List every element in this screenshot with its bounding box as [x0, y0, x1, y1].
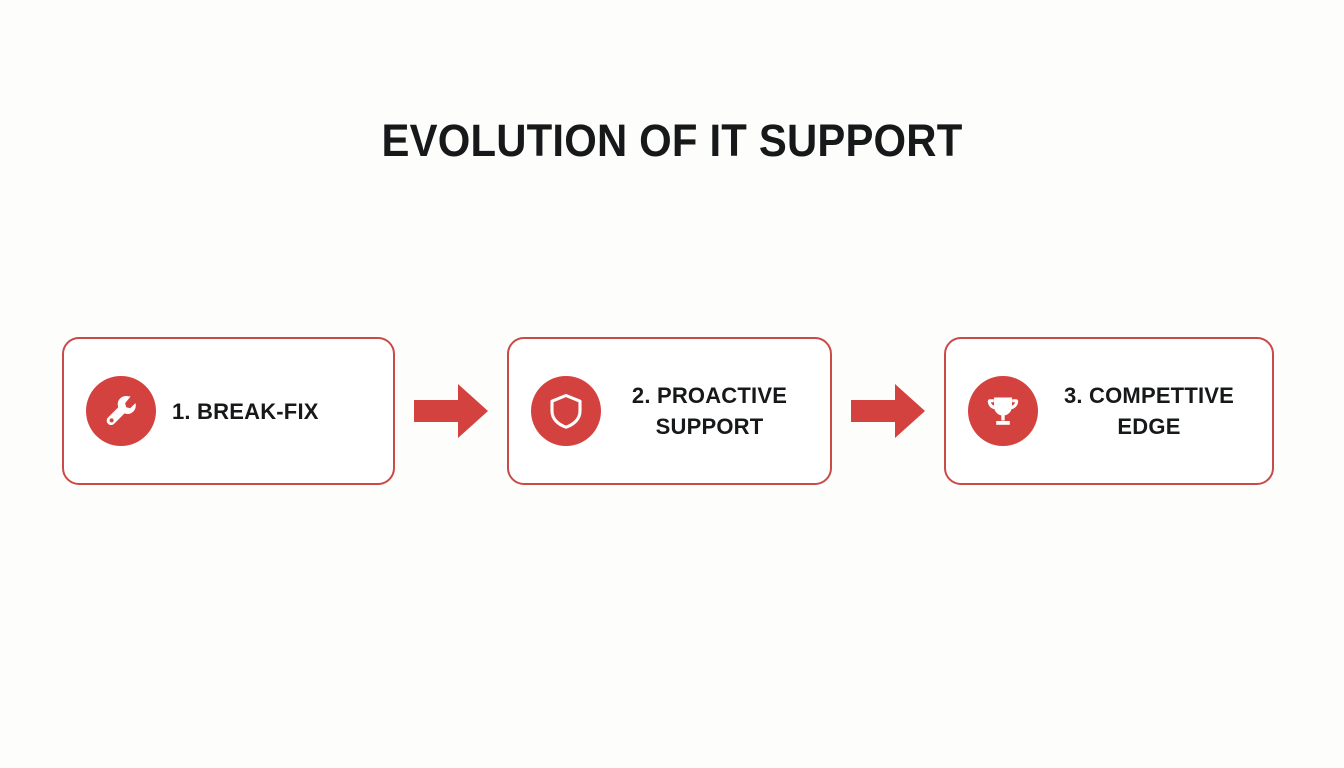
page-title: EVOLUTION OF IT SUPPORT — [47, 115, 1297, 167]
arrow-stage2-to-stage3 — [849, 380, 927, 442]
arrow-stage1-to-stage2 — [412, 380, 490, 442]
slide-canvas: EVOLUTION OF IT SUPPORT 1. BREAK-FIX — [0, 0, 1344, 768]
stage-label: 2. PROACTIVE SUPPORT — [601, 380, 812, 442]
stage-card-competitive-edge[interactable]: 3. COMPETTIVE EDGE — [944, 337, 1274, 485]
process-flow-diagram: 1. BREAK-FIX 2. PROACTIVE SUPPORT — [62, 336, 1274, 486]
trophy-icon — [968, 376, 1038, 446]
shield-icon — [531, 376, 601, 446]
stage-label: 1. BREAK-FIX — [156, 396, 375, 427]
stage-card-break-fix[interactable]: 1. BREAK-FIX — [62, 337, 395, 485]
wrench-icon — [86, 376, 156, 446]
stage-label: 3. COMPETTIVE EDGE — [1038, 380, 1254, 442]
stage-card-proactive-support[interactable]: 2. PROACTIVE SUPPORT — [507, 337, 832, 485]
